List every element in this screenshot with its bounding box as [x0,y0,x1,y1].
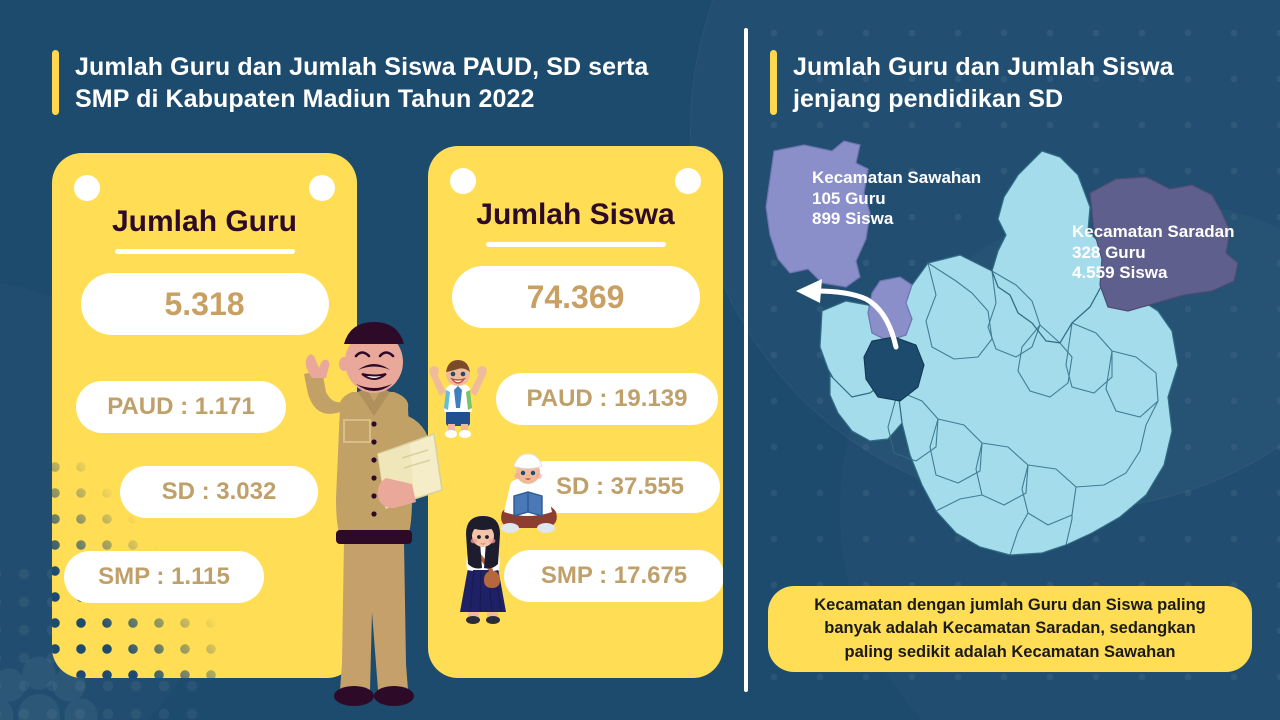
map-label-saradan: Kecamatan Saradan 328 Guru 4.559 Siswa [1072,222,1235,284]
student-boy-cheering-illustration [428,358,488,438]
breakdown-pill-siswa-smp: SMP : 17.675 [504,550,723,602]
card-punch-hole-left [450,168,476,194]
card-heading-underline [486,242,666,247]
card-heading-siswa: Jumlah Siswa [428,198,723,232]
breakdown-pill-guru-paud: PAUD : 1.171 [76,381,286,433]
map-label-sawahan: Kecamatan Sawahan 105 Guru 899 Siswa [812,168,981,230]
left-panel-title-text: Jumlah Guru dan Jumlah Siswa PAUD, SD se… [75,50,648,115]
card-punch-hole-left [74,175,100,201]
infographic-canvas: Jumlah Guru dan Jumlah Siswa PAUD, SD se… [0,0,1280,720]
summary-caption: Kecamatan dengan jumlah Guru dan Siswa p… [768,586,1252,672]
right-panel-title-text: Jumlah Guru dan Jumlah Siswa jenjang pen… [793,50,1174,115]
left-panel-title: Jumlah Guru dan Jumlah Siswa PAUD, SD se… [52,50,712,115]
map-callout-arrowhead [796,279,822,303]
card-heading-underline [115,249,295,254]
panel-divider [744,28,748,692]
card-heading-guru: Jumlah Guru [52,205,357,239]
card-punch-hole-right [675,168,701,194]
breakdown-pill-guru-smp: SMP : 1.115 [64,551,264,603]
student-girl-illustration [452,512,514,624]
breakdown-pill-siswa-paud: PAUD : 19.139 [496,373,718,425]
right-panel-title: Jumlah Guru dan Jumlah Siswa jenjang pen… [770,50,1240,115]
title-accent-bar [770,50,777,115]
total-value-siswa: 74.369 [452,266,700,328]
card-punch-hole-right [309,175,335,201]
title-accent-bar [52,50,59,115]
